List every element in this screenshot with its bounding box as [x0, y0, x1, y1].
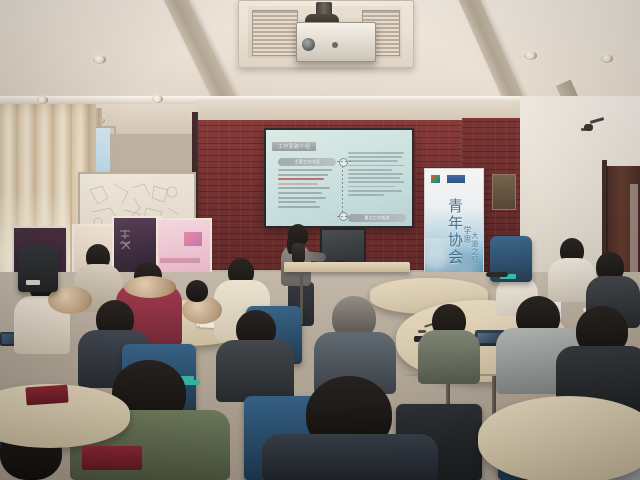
- projector-indicator-icon: [332, 42, 338, 48]
- red-folder: [82, 446, 142, 470]
- person-body: [216, 340, 294, 402]
- banner-emblem-icon: [431, 175, 440, 183]
- wall-camera-icon: [584, 124, 593, 131]
- slide-paragraph-line: [348, 194, 384, 196]
- slide-left-bullets: [278, 169, 336, 208]
- slide-left-panel: 主要工作内容: [278, 158, 336, 216]
- chair-tag: [26, 280, 40, 285]
- slide-paragraph-line: [348, 156, 402, 158]
- chair-armrest: [486, 272, 508, 277]
- slide-bullet-line-highlight: [278, 183, 318, 185]
- slide-bullet-line: [278, 197, 326, 199]
- slide-paragraph-line: [348, 169, 392, 171]
- slide-bullet-line: [278, 201, 316, 203]
- slide-right-panel: [348, 152, 406, 210]
- ac-vent-grille-icon: [252, 10, 298, 56]
- person-head: [186, 280, 208, 302]
- downlight-icon: [601, 54, 613, 63]
- slide-node-icon: [339, 158, 348, 167]
- board-pink-label: [160, 258, 200, 263]
- slide-connector: [337, 161, 351, 162]
- slide-bullet-line-highlight: [278, 178, 324, 180]
- slide-paragraph-line: [348, 177, 400, 179]
- chair-tag: [184, 380, 200, 385]
- red-folder: [25, 385, 68, 406]
- downlight-icon: [152, 95, 163, 103]
- screenshot-root: 工作思路介绍 主要工作内容 重点工作推进: [0, 0, 640, 480]
- slide-bullet-line: [278, 206, 320, 208]
- slide-bullet-line: [278, 174, 328, 176]
- banner-wordmark-icon: [447, 175, 465, 183]
- slide-title: 工作思路介绍: [272, 142, 316, 151]
- presenter-podium-table: [284, 262, 410, 272]
- slide-paragraph-line: [348, 173, 403, 175]
- board-calligraphy: [117, 228, 135, 254]
- board-pink-motif: [184, 232, 202, 246]
- downlight-icon: [37, 96, 48, 104]
- person-body: [418, 330, 480, 384]
- slide-paragraph-line: [348, 152, 404, 154]
- slide-paragraph-line: [348, 160, 398, 162]
- slide-footer-bar: 重点工作推进: [348, 214, 406, 222]
- slide-paragraph-line: [348, 186, 395, 188]
- banner-sub-text-2: 大道之行: [470, 232, 480, 264]
- slide-paragraph-line: [348, 190, 402, 192]
- slide-connector: [342, 166, 343, 212]
- downlight-icon: [93, 55, 106, 64]
- slide-connector: [337, 216, 349, 217]
- slide-footer-text: 重点工作推进: [364, 215, 389, 221]
- slide-paragraph-line: [348, 181, 404, 183]
- conference-chair-dark[interactable]: [18, 246, 58, 292]
- projector-lens-icon: [302, 38, 315, 51]
- wall-plaque: [492, 174, 516, 210]
- slide-title-text: 工作思路介绍: [278, 143, 310, 150]
- fur-collar: [124, 276, 176, 298]
- presenter-scarf: [292, 243, 305, 263]
- slide-bullet-line: [278, 169, 332, 171]
- table-right-front: [478, 396, 640, 480]
- downlight-icon: [524, 51, 537, 60]
- slide-paragraph-line: [348, 165, 404, 167]
- slide-left-header: 主要工作内容: [278, 158, 336, 166]
- slide-bullet-line: [278, 187, 330, 189]
- person-body: [262, 434, 438, 480]
- slide-bullet-line: [278, 192, 322, 194]
- slide-left-header-text: 主要工作内容: [294, 159, 319, 165]
